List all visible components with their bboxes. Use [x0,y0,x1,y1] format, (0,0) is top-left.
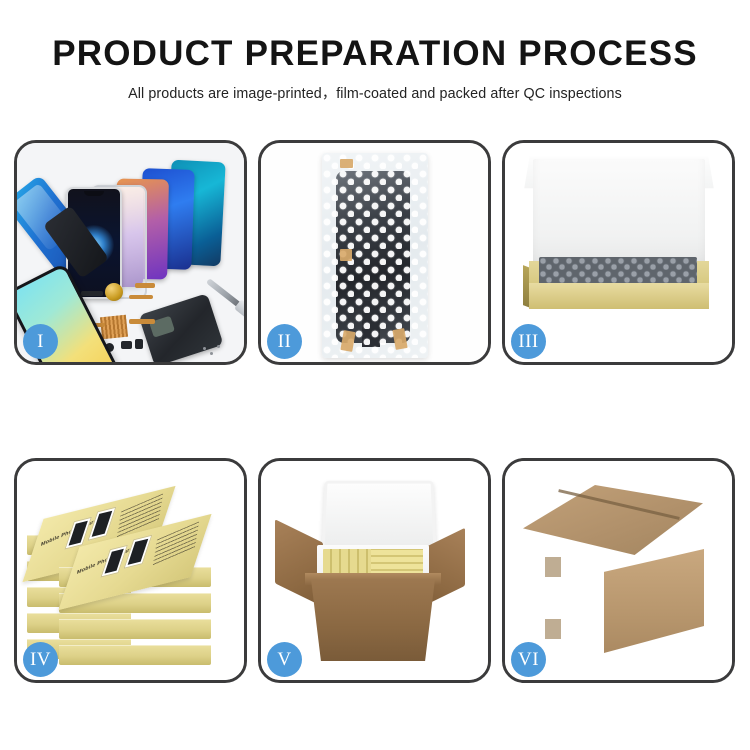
white-foam-lid [533,159,705,269]
carton-body [311,579,435,661]
step-badge-3: III [511,324,546,359]
kraft-box-front [529,283,709,309]
process-step-panel-2[interactable]: II [258,140,491,365]
step-badge-6: VI [511,642,546,677]
bubble-texture [322,153,428,358]
foam-lid-open [321,481,436,553]
step-badge-5: V [267,642,302,677]
process-step-grid: I II III [14,140,736,683]
process-step-panel-4[interactable]: Mobile Phone Spare Parts Mobile Phone Sp… [14,458,247,683]
process-step-panel-1[interactable]: I [14,140,247,365]
copper-board-part [100,315,128,340]
process-step-panel-3[interactable]: III [502,140,735,365]
carton-tape [545,619,561,639]
gold-speaker-part [105,283,123,301]
bubble-wrap-package [322,153,428,358]
page-title: PRODUCT PREPARATION PROCESS [0,36,750,73]
retail-box-stack: Mobile Phone Spare Parts Mobile Phone Sp… [23,475,239,671]
step-badge-2: II [267,324,302,359]
step-badge-4: IV [23,642,58,677]
page-subtitle: All products are image-printed，film-coat… [0,82,750,103]
process-step-panel-5[interactable]: V [258,458,491,683]
carton-tape [545,557,561,577]
process-step-panel-6[interactable]: VI [502,458,735,683]
page-header: PRODUCT PREPARATION PROCESS All products… [0,0,750,103]
step-badge-1: I [23,324,58,359]
